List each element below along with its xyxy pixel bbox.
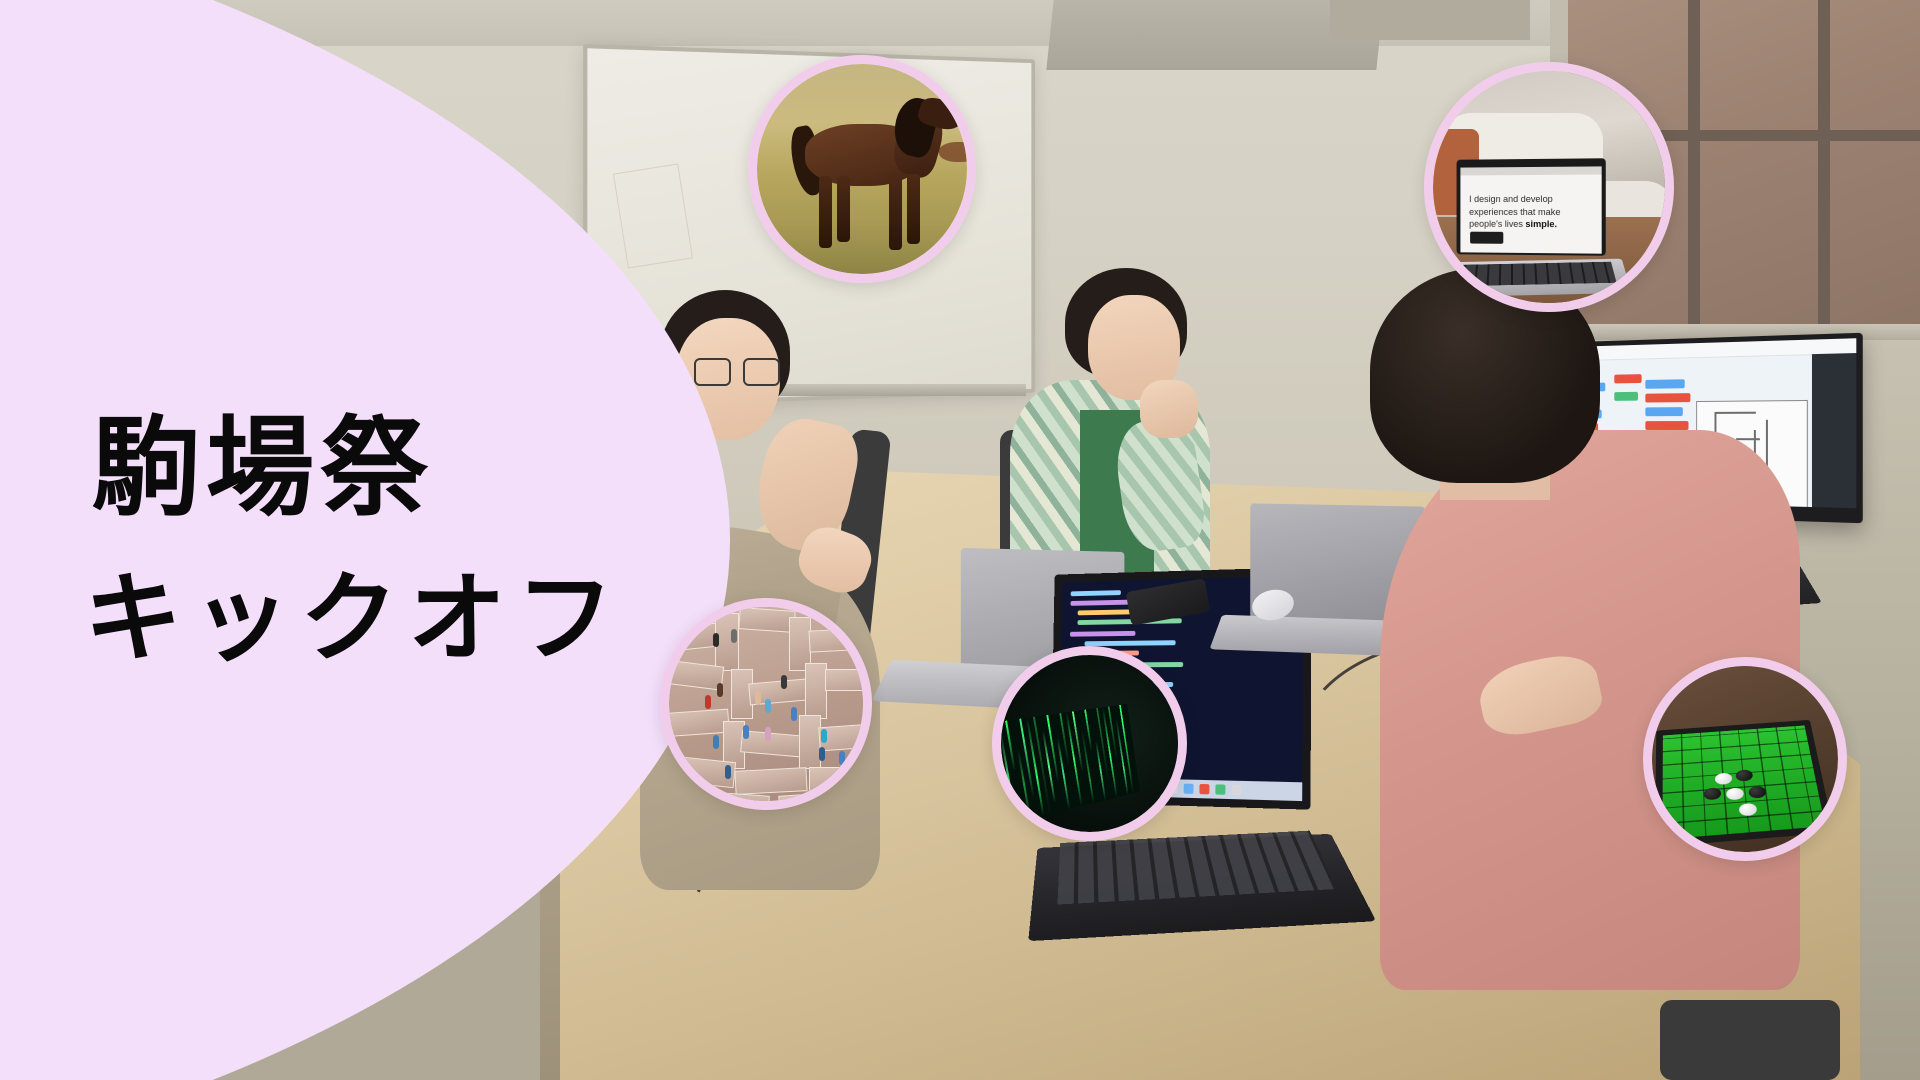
poster-title-line-2: キックオフ [84, 560, 640, 678]
poster-title-line-1: 駒場祭 [92, 402, 640, 534]
headline-line-3: people's lives [1469, 219, 1525, 229]
glasses-icon [694, 358, 780, 382]
laptop-keyboard [1437, 259, 1631, 298]
horse-photo-bubble [748, 55, 976, 283]
laptop-screen: I design and develop experiences that ma… [1457, 158, 1606, 256]
portfolio-laptop-photo-bubble: I design and develop experiences that ma… [1424, 62, 1674, 312]
othello-board[interactable] [1655, 720, 1834, 847]
ceiling-edge [1330, 0, 1530, 40]
hand [1140, 380, 1198, 438]
headline-line-2: experiences that make [1469, 206, 1560, 216]
cta-button[interactable] [1470, 232, 1503, 244]
maze-photo-bubble [660, 598, 872, 810]
othello-photo-bubble [1643, 657, 1847, 861]
chair [1660, 1000, 1840, 1080]
distant-horse [939, 142, 967, 162]
portfolio-headline: I design and develop experiences that ma… [1469, 193, 1593, 231]
title-block: 駒場祭 キックオフ [0, 0, 640, 1080]
matrix-photo-bubble [992, 646, 1187, 841]
headline-line-1: I design and develop [1469, 194, 1553, 204]
headline-emphasis: simple. [1525, 219, 1557, 229]
poster-canvas: 駒場祭 キックオフ [0, 0, 1920, 1080]
browser-bar [1460, 166, 1601, 175]
